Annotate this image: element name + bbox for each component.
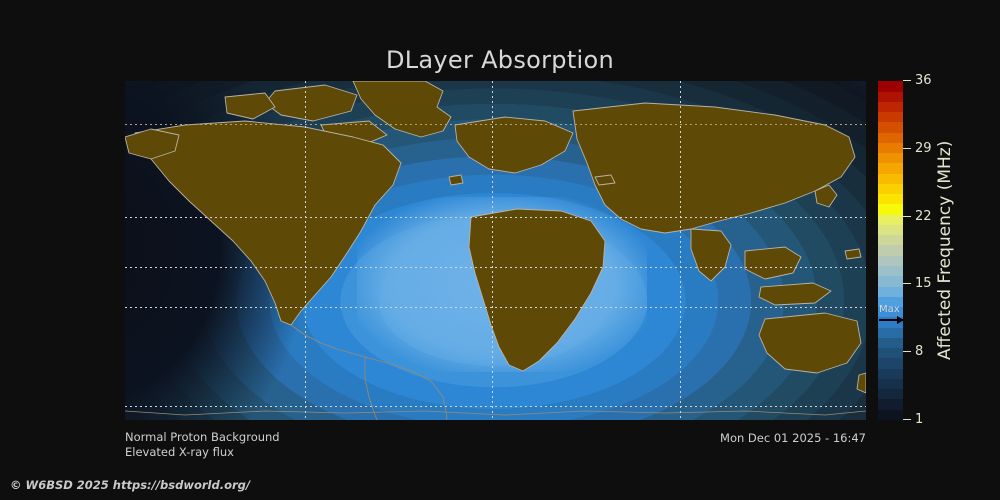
gridline-lon-0 bbox=[492, 81, 493, 420]
colorbar-segment bbox=[878, 81, 903, 91]
gridline-lat-equator bbox=[125, 267, 866, 268]
colorbar-tick: 15 bbox=[903, 277, 932, 290]
colorbar-segment bbox=[878, 102, 903, 112]
timestamp: Mon Dec 01 2025 - 16:47 bbox=[0, 431, 866, 445]
colorbar-segment bbox=[878, 122, 903, 132]
gridline-lat-15s bbox=[125, 307, 866, 308]
gridline-lon-90w bbox=[305, 81, 306, 420]
colorbar-segment bbox=[878, 338, 903, 348]
colorbar-segment bbox=[878, 317, 903, 327]
colorbar-segment bbox=[878, 307, 903, 317]
colorbar-tick: 1 bbox=[903, 413, 923, 426]
colorbar-tick-label: 1 bbox=[915, 413, 923, 426]
colorbar-segment bbox=[878, 225, 903, 235]
colorbar-segment bbox=[878, 389, 903, 399]
colorbar-tick-dash bbox=[903, 351, 911, 352]
colorbar-tick-dash bbox=[903, 419, 911, 420]
colorbar-tick-dash bbox=[903, 148, 911, 149]
colorbar-segment bbox=[878, 358, 903, 368]
colorbar-segment bbox=[878, 92, 903, 102]
colorbar-tick: 36 bbox=[903, 74, 932, 87]
colorbar-segment bbox=[878, 143, 903, 153]
colorbar-tick-dash bbox=[903, 216, 911, 217]
colorbar-segment bbox=[878, 266, 903, 276]
page-title: DLayer Absorption bbox=[0, 46, 1000, 74]
colorbar-segment bbox=[878, 276, 903, 286]
colorbar-segment bbox=[878, 328, 903, 338]
colorbar-segment bbox=[878, 410, 903, 420]
colorbar-segment bbox=[878, 153, 903, 163]
gridline-lon-90e bbox=[680, 81, 681, 420]
colorbar-tick-label: 8 bbox=[915, 345, 923, 358]
colorbar-axis-label: Affected Frequency (MHz) bbox=[930, 81, 960, 420]
gridline-lat-60n bbox=[125, 124, 866, 125]
colorbar-segment bbox=[878, 297, 903, 307]
colorbar-tick-dash bbox=[903, 80, 911, 81]
colorbar-segment bbox=[878, 235, 903, 245]
status-line-2: Elevated X-ray flux bbox=[125, 445, 234, 459]
colorbar-segment bbox=[878, 174, 903, 184]
colorbar-tick-dash bbox=[903, 283, 911, 284]
gridline-lat-60s bbox=[125, 406, 866, 407]
colorbar-segment bbox=[878, 379, 903, 389]
colorbar-segment bbox=[878, 194, 903, 204]
colorbar-tick: 29 bbox=[903, 142, 932, 155]
colorbar[interactable] bbox=[878, 81, 903, 420]
colorbar-segment bbox=[878, 287, 903, 297]
screenshot-root: DLayer Absorption bbox=[0, 0, 1000, 500]
colorbar-segment bbox=[878, 245, 903, 255]
colorbar-segment bbox=[878, 399, 903, 409]
colorbar-segment bbox=[878, 369, 903, 379]
colorbar-segment bbox=[878, 112, 903, 122]
world-map[interactable] bbox=[125, 81, 866, 420]
colorbar-segment bbox=[878, 215, 903, 225]
colorbar-segment bbox=[878, 348, 903, 358]
colorbar-segment bbox=[878, 163, 903, 173]
colorbar-segment bbox=[878, 184, 903, 194]
colorbar-tick: 8 bbox=[903, 345, 923, 358]
colorbar-segment bbox=[878, 256, 903, 266]
colorbar-tick: 22 bbox=[903, 210, 932, 223]
colorbar-segment bbox=[878, 204, 903, 214]
credit-footer: © W6BSD 2025 https://bsdworld.org/ bbox=[10, 478, 250, 492]
landmass-layer bbox=[125, 81, 866, 420]
gridline-lat-30n bbox=[125, 217, 866, 218]
colorbar-segment bbox=[878, 133, 903, 143]
